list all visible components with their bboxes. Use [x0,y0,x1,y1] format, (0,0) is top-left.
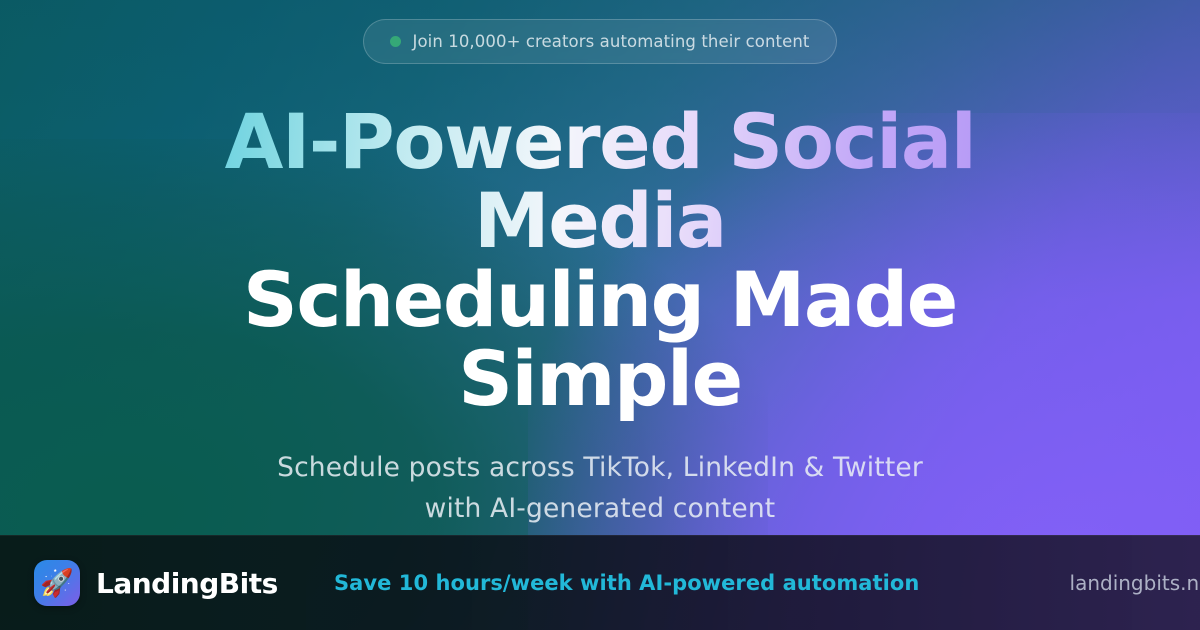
footer-bar: 🚀 LandingBits Save 10 hours/week with AI… [0,535,1200,630]
hero-section: Join 10,000+ creators automating their c… [0,0,1200,535]
rocket-icon: 🚀 [34,560,80,606]
headline-line-4: Simple [100,339,1100,418]
page-subtitle: Schedule posts across TikTok, LinkedIn &… [170,447,1030,529]
subtitle-line-2: with AI-generated content [170,488,1030,529]
status-dot-icon [390,36,401,47]
brand-lockup[interactable]: 🚀 LandingBits [34,560,334,606]
headline-line-2: Media [100,181,1100,260]
brand-name: LandingBits [96,567,278,600]
social-proof-badge-label: Join 10,000+ creators automating their c… [412,32,809,51]
headline-line-1: AI-Powered Social [100,102,1100,181]
og-card: Join 10,000+ creators automating their c… [0,0,1200,630]
subtitle-line-1: Schedule posts across TikTok, LinkedIn &… [170,447,1030,488]
footer-url[interactable]: landingbits.net [919,571,1200,595]
headline-line-3: Scheduling Made [100,260,1100,339]
social-proof-badge: Join 10,000+ creators automating their c… [363,19,836,64]
page-title: AI-Powered Social Media Scheduling Made … [100,102,1100,418]
footer-tagline: Save 10 hours/week with AI-powered autom… [334,571,919,595]
